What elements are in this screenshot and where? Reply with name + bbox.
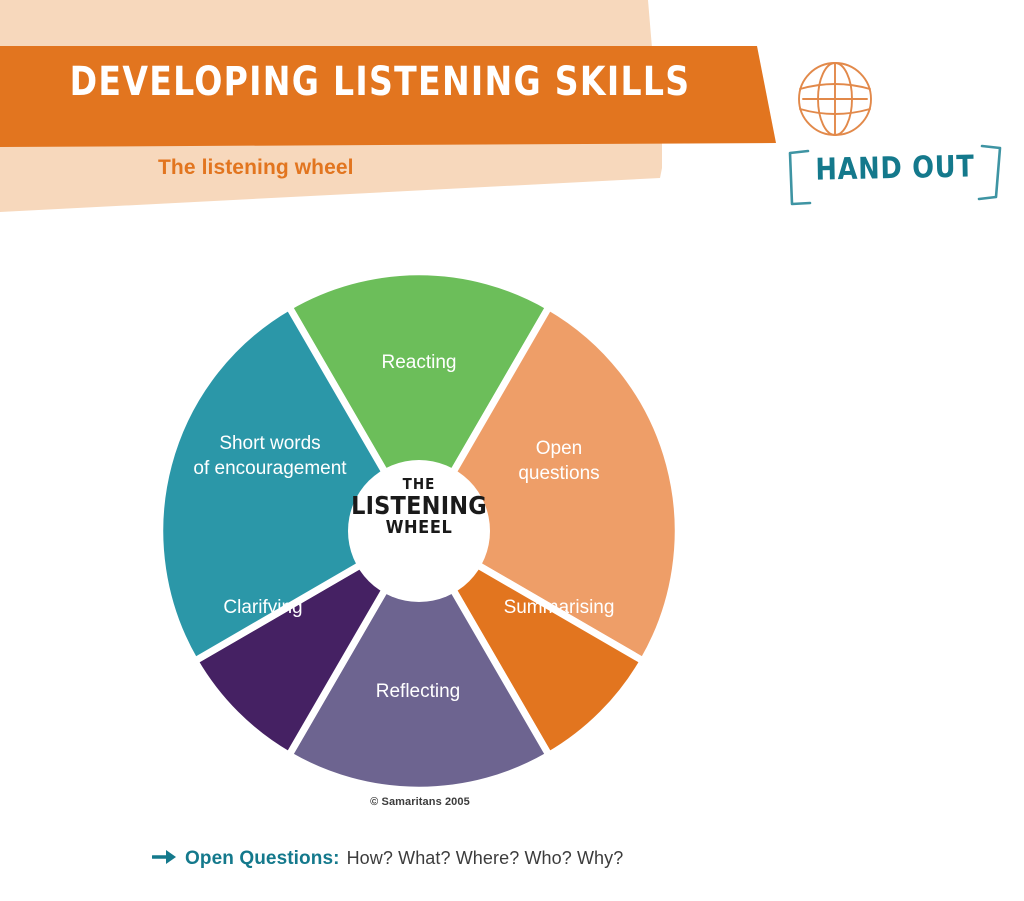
- handout-badge-label: HAND OUT: [812, 149, 978, 187]
- wheel-label-open-questions-line1: Open: [536, 438, 582, 459]
- header-banner: DEVELOPING LISTENING SKILLS The listenin…: [0, 0, 1024, 230]
- arrow-right-icon: [152, 848, 178, 866]
- wheel-label-clarifying: Clarifying: [223, 597, 302, 618]
- globe-icon: [792, 56, 878, 142]
- listening-wheel-chart: Reacting Open questions Summarising Refl…: [150, 262, 690, 807]
- page-subtitle: The listening wheel: [158, 156, 354, 180]
- footer-note-text: How? What? Where? Who? Why?: [347, 848, 624, 869]
- handout-page: DEVELOPING LISTENING SKILLS The listenin…: [0, 0, 1024, 901]
- wheel-label-reacting: Reacting: [382, 352, 457, 373]
- footer-note: Open Questions: How? What? Where? Who? W…: [152, 846, 623, 870]
- page-title: DEVELOPING LISTENING SKILLS: [30, 62, 729, 102]
- wheel-label-reflecting: Reflecting: [376, 681, 461, 702]
- handout-badge: HAND OUT: [778, 142, 1010, 208]
- copyright-notice: © Samaritans 2005: [150, 796, 690, 808]
- wheel-hub: [348, 460, 490, 602]
- wheel-label-summarising: Summarising: [504, 597, 615, 618]
- wheel-label-short-words-line1: Short words: [219, 433, 320, 454]
- wheel-label-short-words-line2: of encouragement: [193, 458, 347, 479]
- wheel-label-open-questions-line2: questions: [518, 463, 599, 484]
- footer-note-strong: Open Questions:: [185, 848, 340, 870]
- wheel-svg: Reacting Open questions Summarising Refl…: [150, 262, 690, 807]
